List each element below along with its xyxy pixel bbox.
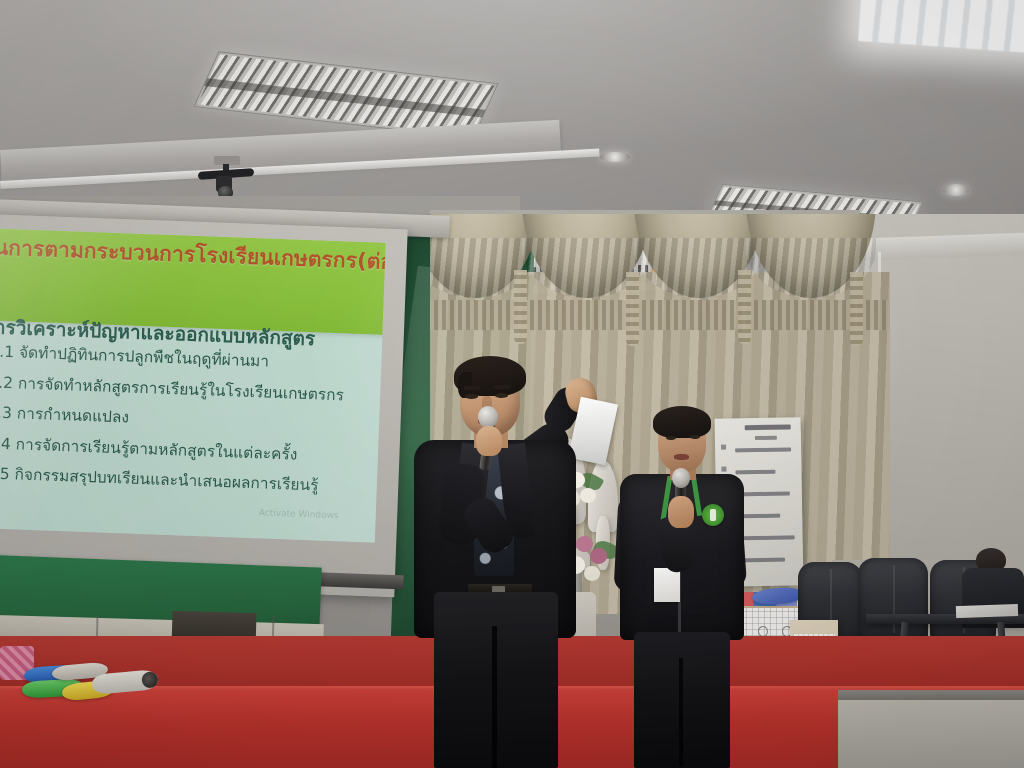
flipchart-heading-scribble: [745, 424, 791, 430]
ceiling-downlight: [943, 184, 969, 196]
presenter-secondary: [616, 400, 748, 768]
ceiling-downlight: [600, 152, 630, 162]
chair-back: [858, 558, 928, 644]
copresenter-hair: [653, 406, 711, 438]
copresenter-eye: [690, 435, 700, 439]
presenter-trousers: [434, 592, 558, 768]
copresenter-trousers: [634, 632, 730, 768]
curtain-fringe: [430, 300, 890, 330]
curtain-tassel: [626, 272, 639, 346]
presentation-slide: ารดำเนินการตามกระบวนการโรงเรียนเกษตรกร(ต…: [0, 228, 386, 543]
slide-bullet-item: 2.5 กิจกรรมสรุปบทเรียนและนำเสนอผลการเรีย…: [0, 466, 385, 496]
microphone-head[interactable]: [478, 406, 498, 428]
presenter-eyebrow: [464, 386, 480, 390]
copresenter-chest-logo: [702, 504, 724, 526]
slide-bullet-item: 2.3 การกำหนดแปลง: [0, 405, 386, 435]
slide-bullet-item: 2.2 การจัดทำหลักสูตรการเรียนรู้ในโรงเรีย…: [0, 375, 386, 405]
copresenter-id-badge: [654, 568, 680, 602]
curtain-tassel: [850, 272, 863, 346]
papers-on-table: [956, 604, 1018, 618]
presenter-main: [398, 352, 628, 768]
presenter-eye: [465, 394, 478, 399]
presenter-hand-holding-mic: [476, 426, 502, 456]
copresenter-hand-holding-mic: [668, 496, 694, 528]
copresenter-mouth: [674, 454, 689, 460]
presenter-eyebrow: [494, 385, 510, 389]
flipchart-subheading-scribble: [755, 436, 777, 440]
presenter-eye: [495, 393, 508, 398]
copresenter-eye: [666, 436, 676, 440]
photo-scene: ารดำเนินการตามกระบวนการโรงเรียนเกษตรกร(ต…: [0, 0, 1024, 768]
flipchart-line: [741, 535, 795, 540]
presenter-hair: [454, 356, 526, 396]
projector-screen-surface: ารดำเนินการตามกระบวนการโรงเรียนเกษตรกร(ต…: [0, 228, 386, 543]
slide-bullet-list: 2.1 จัดทำปฏิทินการปลูกพืชในฤดูที่ผ่านมา …: [0, 344, 386, 511]
curtain-tassel: [514, 270, 527, 344]
floor-tiles: [838, 700, 1024, 768]
curtain-tassel: [738, 270, 751, 344]
security-camera-icon: [196, 156, 256, 198]
slide-bullet-item: 2.4 การจัดการเรียนรู้ตามหลักสูตรในแต่ละค…: [0, 436, 386, 466]
microphone-head[interactable]: [672, 468, 690, 488]
